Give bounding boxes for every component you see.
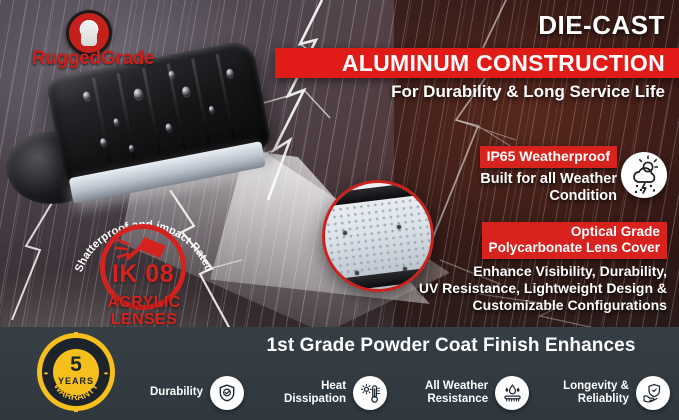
feature-ip65: IP65 Weatherproof Built for all Weather … (402, 146, 617, 205)
optical-body-line1: Enhance Visibility, Durability, (377, 263, 667, 280)
headline-block: DIE-CAST ALUMINUM CONSTRUCTION For Durab… (305, 12, 665, 38)
ip65-body-line2: Condition (402, 188, 617, 205)
impact-caption-line1: ACRYLIC (64, 294, 224, 311)
brand-logo[interactable]: RuggedGrade (18, 10, 168, 72)
feature-heat-label: Heat Dissipation (284, 380, 346, 407)
warranty-unit: YEARS (34, 376, 118, 386)
feature-longevity: Longevity & Reliablity (563, 376, 670, 410)
powder-coat-title: 1st Grade Powder Coat Finish Enhances (236, 335, 666, 357)
feature-heat-dissipation: Heat Dissipation (284, 376, 387, 410)
headline-sub: For Durability & Long Service Life (391, 82, 665, 102)
product-marketing-banner: RuggedGrade DIE-CAST ALUMINUM CONSTRUCTI… (0, 0, 679, 420)
optical-body: Enhance Visibility, Durability, UV Resis… (377, 263, 667, 313)
optical-tag: Optical Grade Polycarbonate Lens Cover (482, 222, 668, 259)
ip65-body-line1: Built for all Weather (402, 171, 617, 188)
ip65-tag: IP65 Weatherproof (480, 146, 617, 168)
headline-kicker: DIE-CAST (305, 12, 665, 38)
feature-longevity-label: Longevity & Reliablity (563, 380, 629, 407)
impact-code: IK 08 (100, 260, 186, 289)
hand-shield-icon (636, 376, 670, 410)
headline-main: ALUMINUM CONSTRUCTION (342, 50, 665, 77)
feature-optical-grade: Optical Grade Polycarbonate Lens Cover E… (377, 222, 667, 313)
optical-body-line3: Customizable Configurations (377, 297, 667, 314)
impact-caption: ACRYLIC LENSES (64, 294, 224, 329)
headline-red-bar: ALUMINUM CONSTRUCTION (275, 48, 679, 78)
hammer-impact-icon (114, 234, 172, 262)
warranty-number: 5 (34, 354, 118, 375)
warranty-seal: WARRANTY WARRANTY 5 YEARS (34, 332, 118, 412)
feature-weather-label: All Weather Resistance (425, 380, 488, 407)
feature-durability-label: Durability (150, 386, 203, 399)
optical-tag-line2: Polycarbonate Lens Cover (489, 240, 661, 256)
feature-icon-row: Durability Heat Dissipation (150, 367, 679, 419)
bottom-feature-bar: 1st Grade Powder Coat Finish Enhances WA… (0, 327, 679, 420)
impact-rating-badge: Shatterproof and impact Rated IK 08 ACRY… (64, 198, 224, 326)
water-drops-icon (495, 376, 529, 410)
sun-cloud-rain-icon (621, 152, 667, 198)
impact-caption-line2: LENSES (64, 311, 224, 328)
feature-all-weather: All Weather Resistance (425, 376, 529, 410)
brand-name: RuggedGrade (18, 48, 168, 70)
feature-durability: Durability (150, 376, 244, 410)
optical-body-line2: UV Resistance, Lightweight Design & (377, 280, 667, 297)
optical-tag-line1: Optical Grade (489, 224, 661, 240)
shield-check-icon (210, 376, 244, 410)
thermometer-sun-icon (353, 376, 387, 410)
ip65-body: Built for all Weather Condition (402, 171, 617, 206)
